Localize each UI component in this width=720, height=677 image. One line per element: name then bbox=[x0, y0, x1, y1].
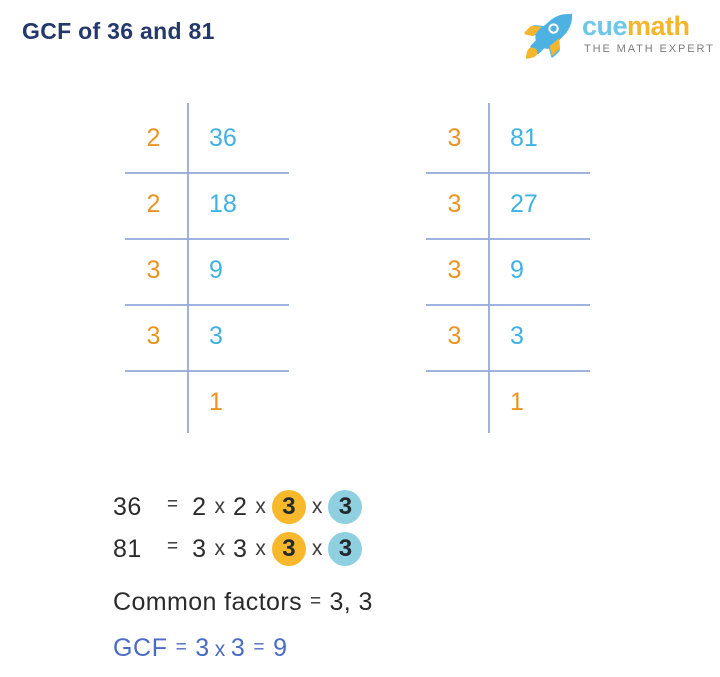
ladder-row: 1 bbox=[120, 369, 320, 436]
equals-sign: = bbox=[176, 637, 188, 658]
ladder-quotient-final: 1 bbox=[187, 388, 320, 417]
multiply-sign: x bbox=[215, 537, 226, 561]
brand-wordmark: cuemath bbox=[582, 11, 690, 41]
multiply-sign: x bbox=[255, 495, 266, 519]
rocket-icon bbox=[520, 12, 574, 60]
factorization-36: 36 = 2 x 2 x 3 x 3 bbox=[113, 486, 533, 528]
equals-sign: = bbox=[167, 494, 178, 516]
multiply-sign: x bbox=[312, 495, 323, 519]
ladder-row: 2 36 bbox=[120, 105, 320, 172]
ladder-row: 3 27 bbox=[421, 171, 621, 238]
factorization-number: 81 bbox=[113, 535, 165, 564]
factorization-81: 81 = 3 x 3 x 3 x 3 bbox=[113, 528, 533, 570]
highlighted-common-factor-blue: 3 bbox=[328, 532, 362, 566]
ladder-divisor: 3 bbox=[120, 256, 187, 285]
ladder-divisor: 2 bbox=[120, 124, 187, 153]
ladder-divisor: 3 bbox=[421, 190, 488, 219]
gcf-result-line: GCF=3x3=9 bbox=[113, 634, 288, 663]
factorization-number: 36 bbox=[113, 493, 165, 522]
division-ladder-81: 3 81 3 27 3 9 3 3 1 bbox=[421, 103, 621, 435]
page-title: GCF of 36 and 81 bbox=[22, 18, 215, 45]
brand-word-math: math bbox=[627, 11, 690, 41]
common-factors-line: Common factors=3, 3 bbox=[113, 588, 373, 617]
ladder-quotient: 18 bbox=[187, 190, 320, 219]
highlighted-common-factor-orange: 3 bbox=[272, 532, 306, 566]
ladder-quotient: 81 bbox=[488, 124, 621, 153]
factor-term: 2 bbox=[192, 493, 206, 522]
ladder-row: 3 3 bbox=[120, 303, 320, 370]
multiply-sign: x bbox=[312, 537, 323, 561]
factor-term: 3 bbox=[233, 535, 247, 564]
equals-sign: = bbox=[310, 591, 322, 612]
multiply-sign: x bbox=[215, 495, 226, 519]
ladder-row: 3 3 bbox=[421, 303, 621, 370]
common-factors-label: Common factors bbox=[113, 588, 302, 616]
factor-term: 3 bbox=[192, 535, 206, 564]
ladder-divisor: 2 bbox=[120, 190, 187, 219]
ladder-row: 3 81 bbox=[421, 105, 621, 172]
ladder-row: 3 9 bbox=[120, 237, 320, 304]
division-ladder-36: 2 36 2 18 3 9 3 3 1 bbox=[120, 103, 320, 435]
common-factors-value: 3, 3 bbox=[330, 588, 373, 616]
brand-word-cue: cue bbox=[582, 11, 627, 41]
multiply-sign: x bbox=[215, 638, 226, 661]
gcf-factor-a: 3 bbox=[195, 634, 210, 662]
ladder-row: 2 18 bbox=[120, 171, 320, 238]
highlighted-common-factor-orange: 3 bbox=[272, 490, 306, 524]
ladder-quotient: 3 bbox=[187, 322, 320, 351]
factorization-block: 36 = 2 x 2 x 3 x 3 81 = 3 x 3 x 3 x 3 bbox=[113, 486, 533, 570]
highlighted-common-factor-blue: 3 bbox=[328, 490, 362, 524]
gcf-result-value: 9 bbox=[273, 634, 288, 662]
equals-sign: = bbox=[167, 536, 178, 558]
ladder-divisor: 3 bbox=[421, 256, 488, 285]
gcf-label: GCF bbox=[113, 634, 168, 662]
ladder-row: 1 bbox=[421, 369, 621, 436]
factor-term: 2 bbox=[233, 493, 247, 522]
ladder-quotient-final: 1 bbox=[488, 388, 621, 417]
ladder-quotient: 3 bbox=[488, 322, 621, 351]
equals-sign: = bbox=[253, 637, 265, 658]
gcf-factor-b: 3 bbox=[231, 634, 246, 662]
ladder-divisor: 3 bbox=[120, 322, 187, 351]
ladder-divisor: 3 bbox=[421, 322, 488, 351]
ladder-quotient: 27 bbox=[488, 190, 621, 219]
multiply-sign: x bbox=[255, 537, 266, 561]
ladder-quotient: 9 bbox=[488, 256, 621, 285]
brand-logo: cuemath THE MATH EXPERT bbox=[514, 10, 704, 62]
ladder-quotient: 9 bbox=[187, 256, 320, 285]
ladder-divisor: 3 bbox=[421, 124, 488, 153]
brand-tagline: THE MATH EXPERT bbox=[584, 43, 715, 55]
ladder-quotient: 36 bbox=[187, 124, 320, 153]
ladder-row: 3 9 bbox=[421, 237, 621, 304]
